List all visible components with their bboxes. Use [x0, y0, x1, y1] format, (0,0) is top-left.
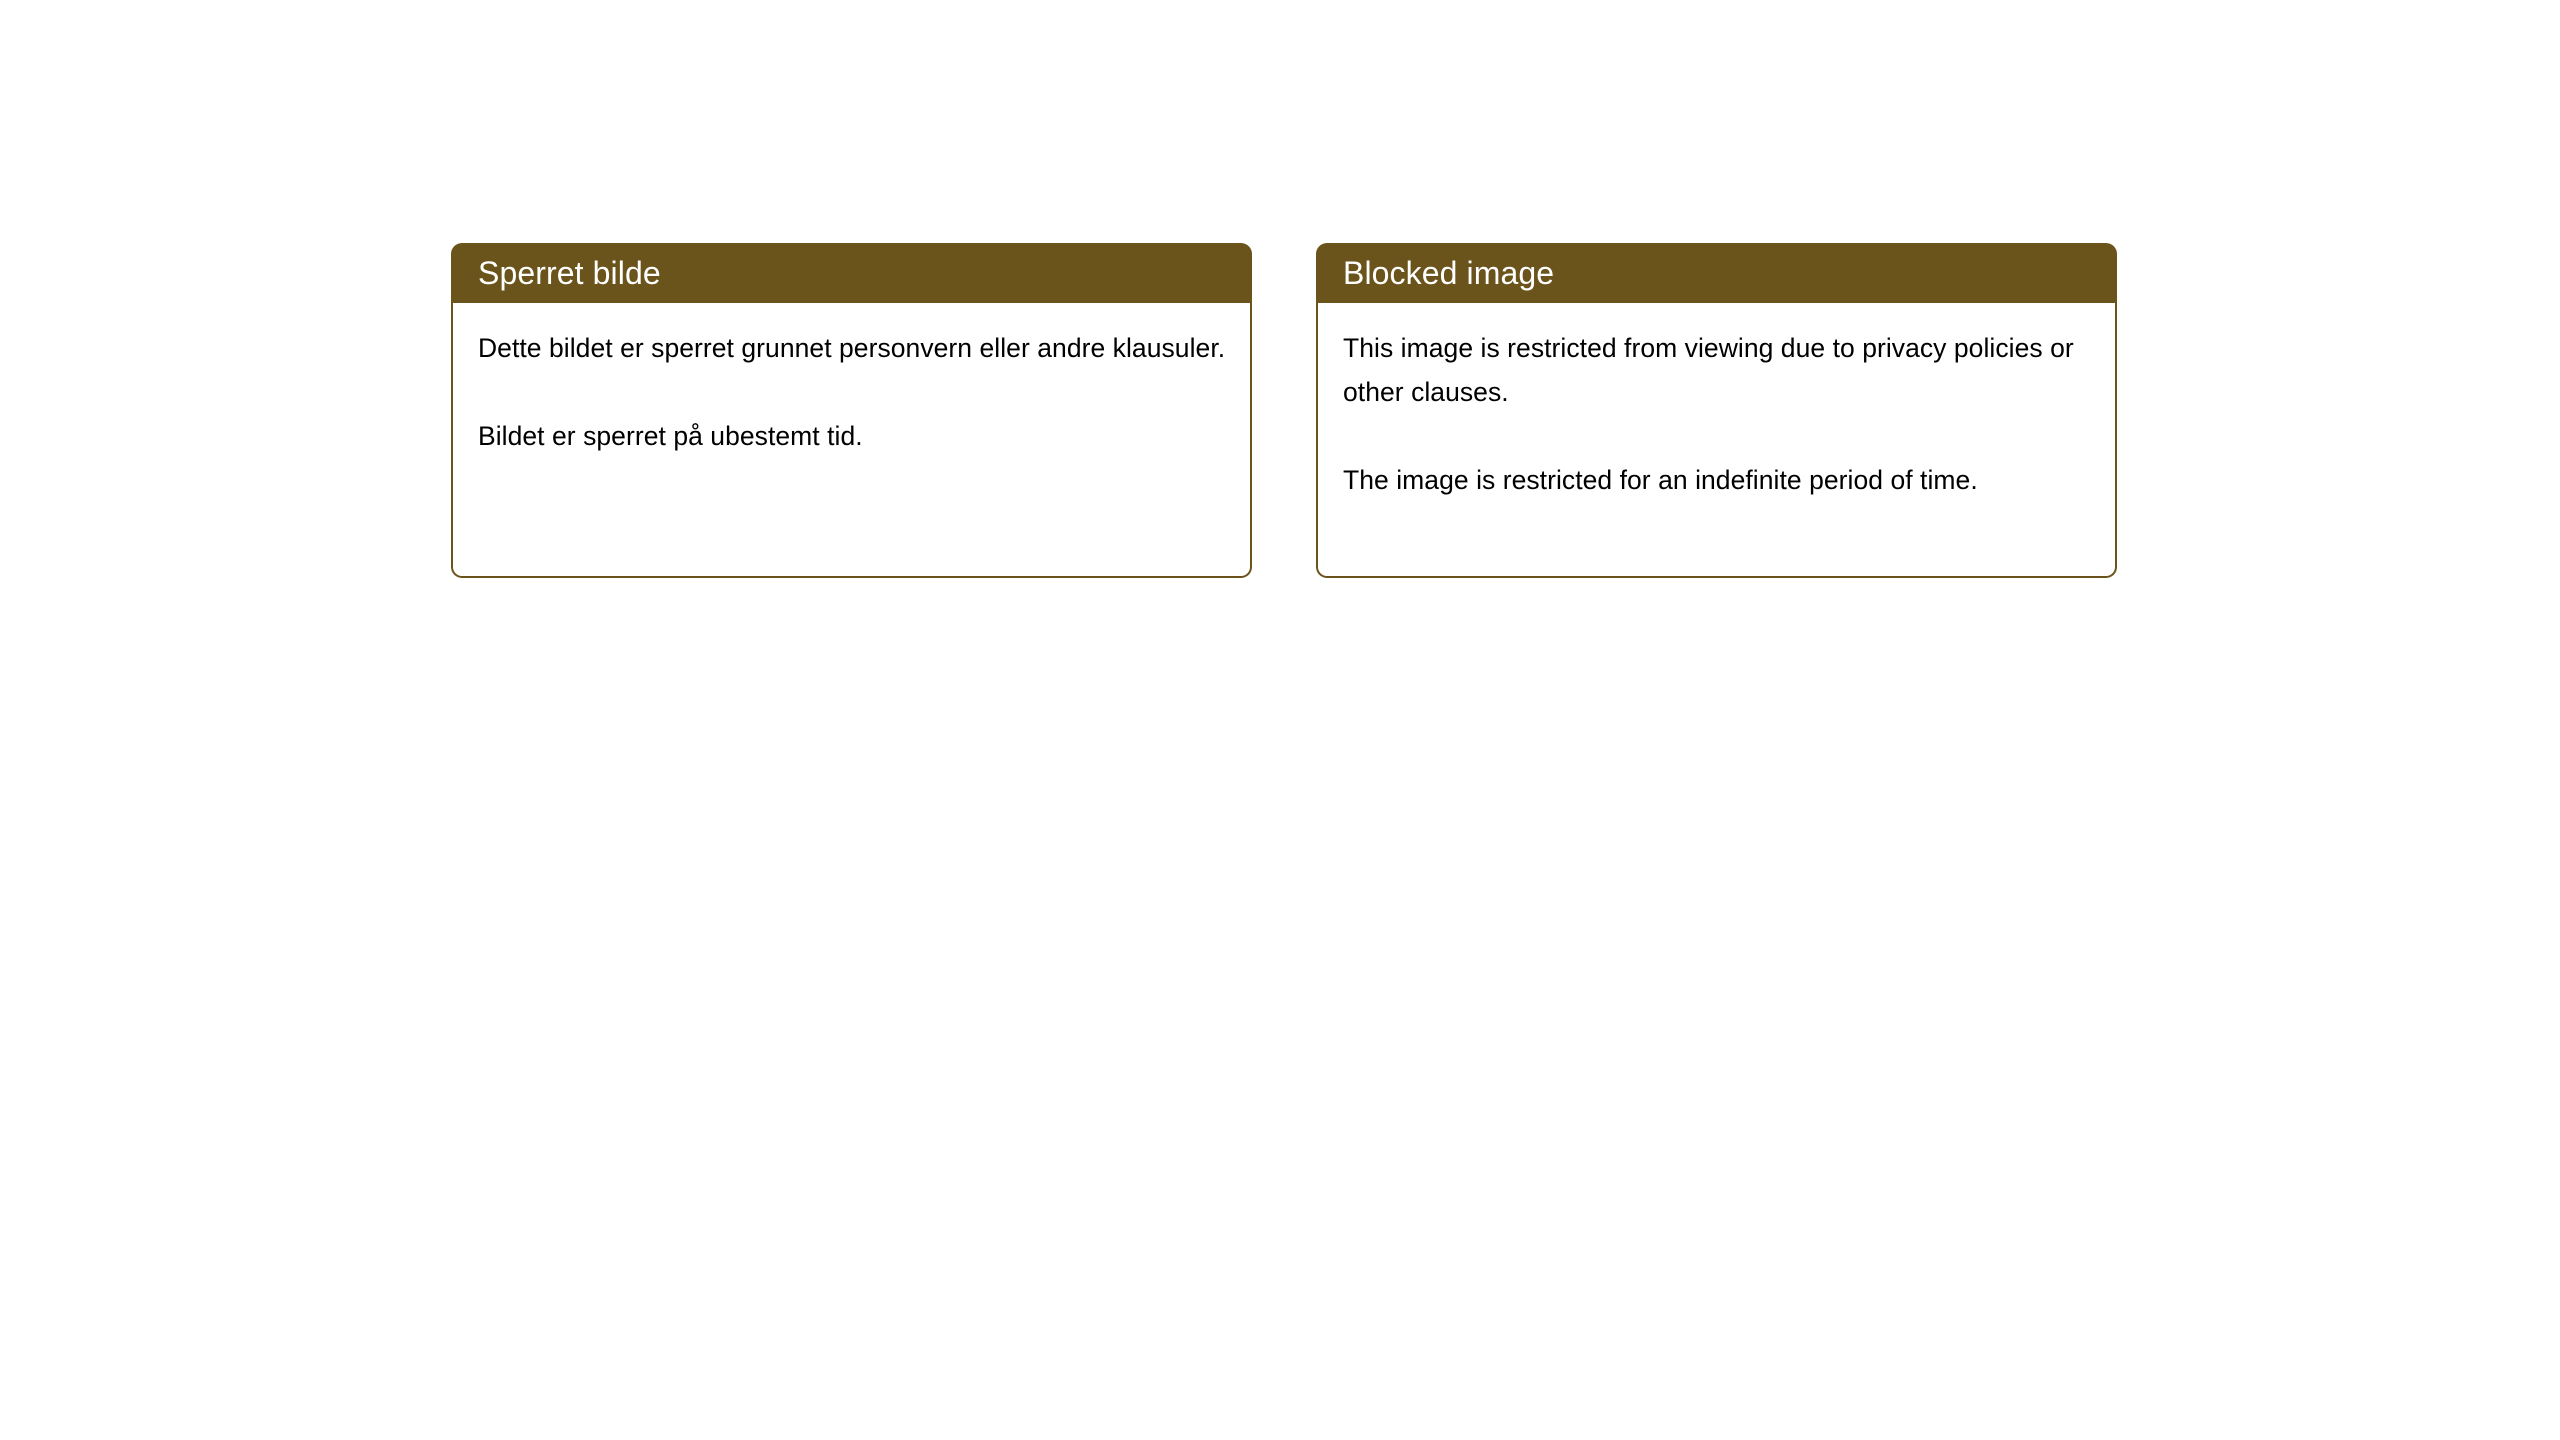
panel-title-english: Blocked image [1343, 255, 1554, 291]
panel-header-english: Blocked image [1316, 243, 2117, 303]
page-canvas: Sperret bilde Dette bildet er sperret gr… [0, 0, 2560, 1440]
panel-paragraph-duration-english: The image is restricted for an indefinit… [1343, 458, 2093, 502]
panel-header-norwegian: Sperret bilde [451, 243, 1252, 303]
panel-body-english: This image is restricted from viewing du… [1316, 303, 2117, 578]
panel-title-norwegian: Sperret bilde [478, 255, 661, 291]
panel-paragraph-reason-english: This image is restricted from viewing du… [1343, 326, 2093, 414]
panel-paragraph-reason-norwegian: Dette bildet er sperret grunnet personve… [478, 326, 1228, 370]
blocked-image-notice-english: Blocked image This image is restricted f… [1316, 243, 2117, 578]
blocked-image-notice-norwegian: Sperret bilde Dette bildet er sperret gr… [451, 243, 1252, 578]
panel-body-norwegian: Dette bildet er sperret grunnet personve… [451, 303, 1252, 578]
panel-paragraph-duration-norwegian: Bildet er sperret på ubestemt tid. [478, 414, 1228, 458]
